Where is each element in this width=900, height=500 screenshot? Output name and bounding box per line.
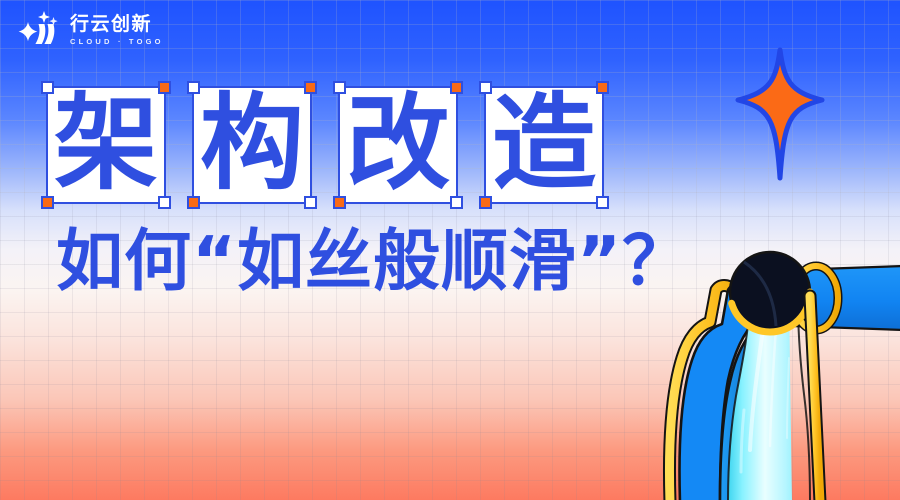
title-char-box[interactable]: 架 (46, 86, 166, 204)
title-char-box[interactable]: 改 (338, 86, 458, 204)
resize-handle-bottom-right[interactable] (158, 196, 171, 209)
page-title: 架 构 改 造 (46, 86, 604, 204)
resize-handle-top-left[interactable] (333, 81, 346, 94)
resize-handle-top-left[interactable] (187, 81, 200, 94)
swoosh-sparkle-logo-icon (14, 8, 62, 52)
title-char-glyph: 改 (346, 91, 450, 195)
title-char-box[interactable]: 造 (484, 86, 604, 204)
brand-name-en: CLOUD · TOGO (70, 38, 164, 46)
resize-handle-top-right[interactable] (158, 81, 171, 94)
brand-logo-text: 行云创新 CLOUD · TOGO (70, 15, 164, 46)
resize-handle-top-left[interactable] (41, 81, 54, 94)
resize-handle-bottom-left[interactable] (479, 196, 492, 209)
title-char-glyph: 造 (492, 91, 596, 195)
resize-handle-bottom-left[interactable] (41, 196, 54, 209)
resize-handle-bottom-right[interactable] (450, 196, 463, 209)
resize-handle-bottom-right[interactable] (596, 196, 609, 209)
title-char-glyph: 构 (200, 91, 304, 195)
resize-handle-top-left[interactable] (479, 81, 492, 94)
resize-handle-top-right[interactable] (304, 81, 317, 94)
brand-logo[interactable]: 行云创新 CLOUD · TOGO (14, 8, 164, 52)
poster-canvas: 行云创新 CLOUD · TOGO 架 构 改 (0, 0, 900, 500)
resize-handle-top-right[interactable] (450, 81, 463, 94)
four-point-star-icon (718, 46, 842, 182)
water-slide-pipe-illustration (624, 240, 900, 500)
title-char-glyph: 架 (54, 91, 158, 195)
page-subtitle: 如何“如丝般顺滑”？ (56, 228, 690, 295)
resize-handle-top-right[interactable] (596, 81, 609, 94)
resize-handle-bottom-left[interactable] (187, 196, 200, 209)
resize-handle-bottom-left[interactable] (333, 196, 346, 209)
brand-name-cn: 行云创新 (70, 15, 164, 34)
resize-handle-bottom-right[interactable] (304, 196, 317, 209)
title-char-box[interactable]: 构 (192, 86, 312, 204)
